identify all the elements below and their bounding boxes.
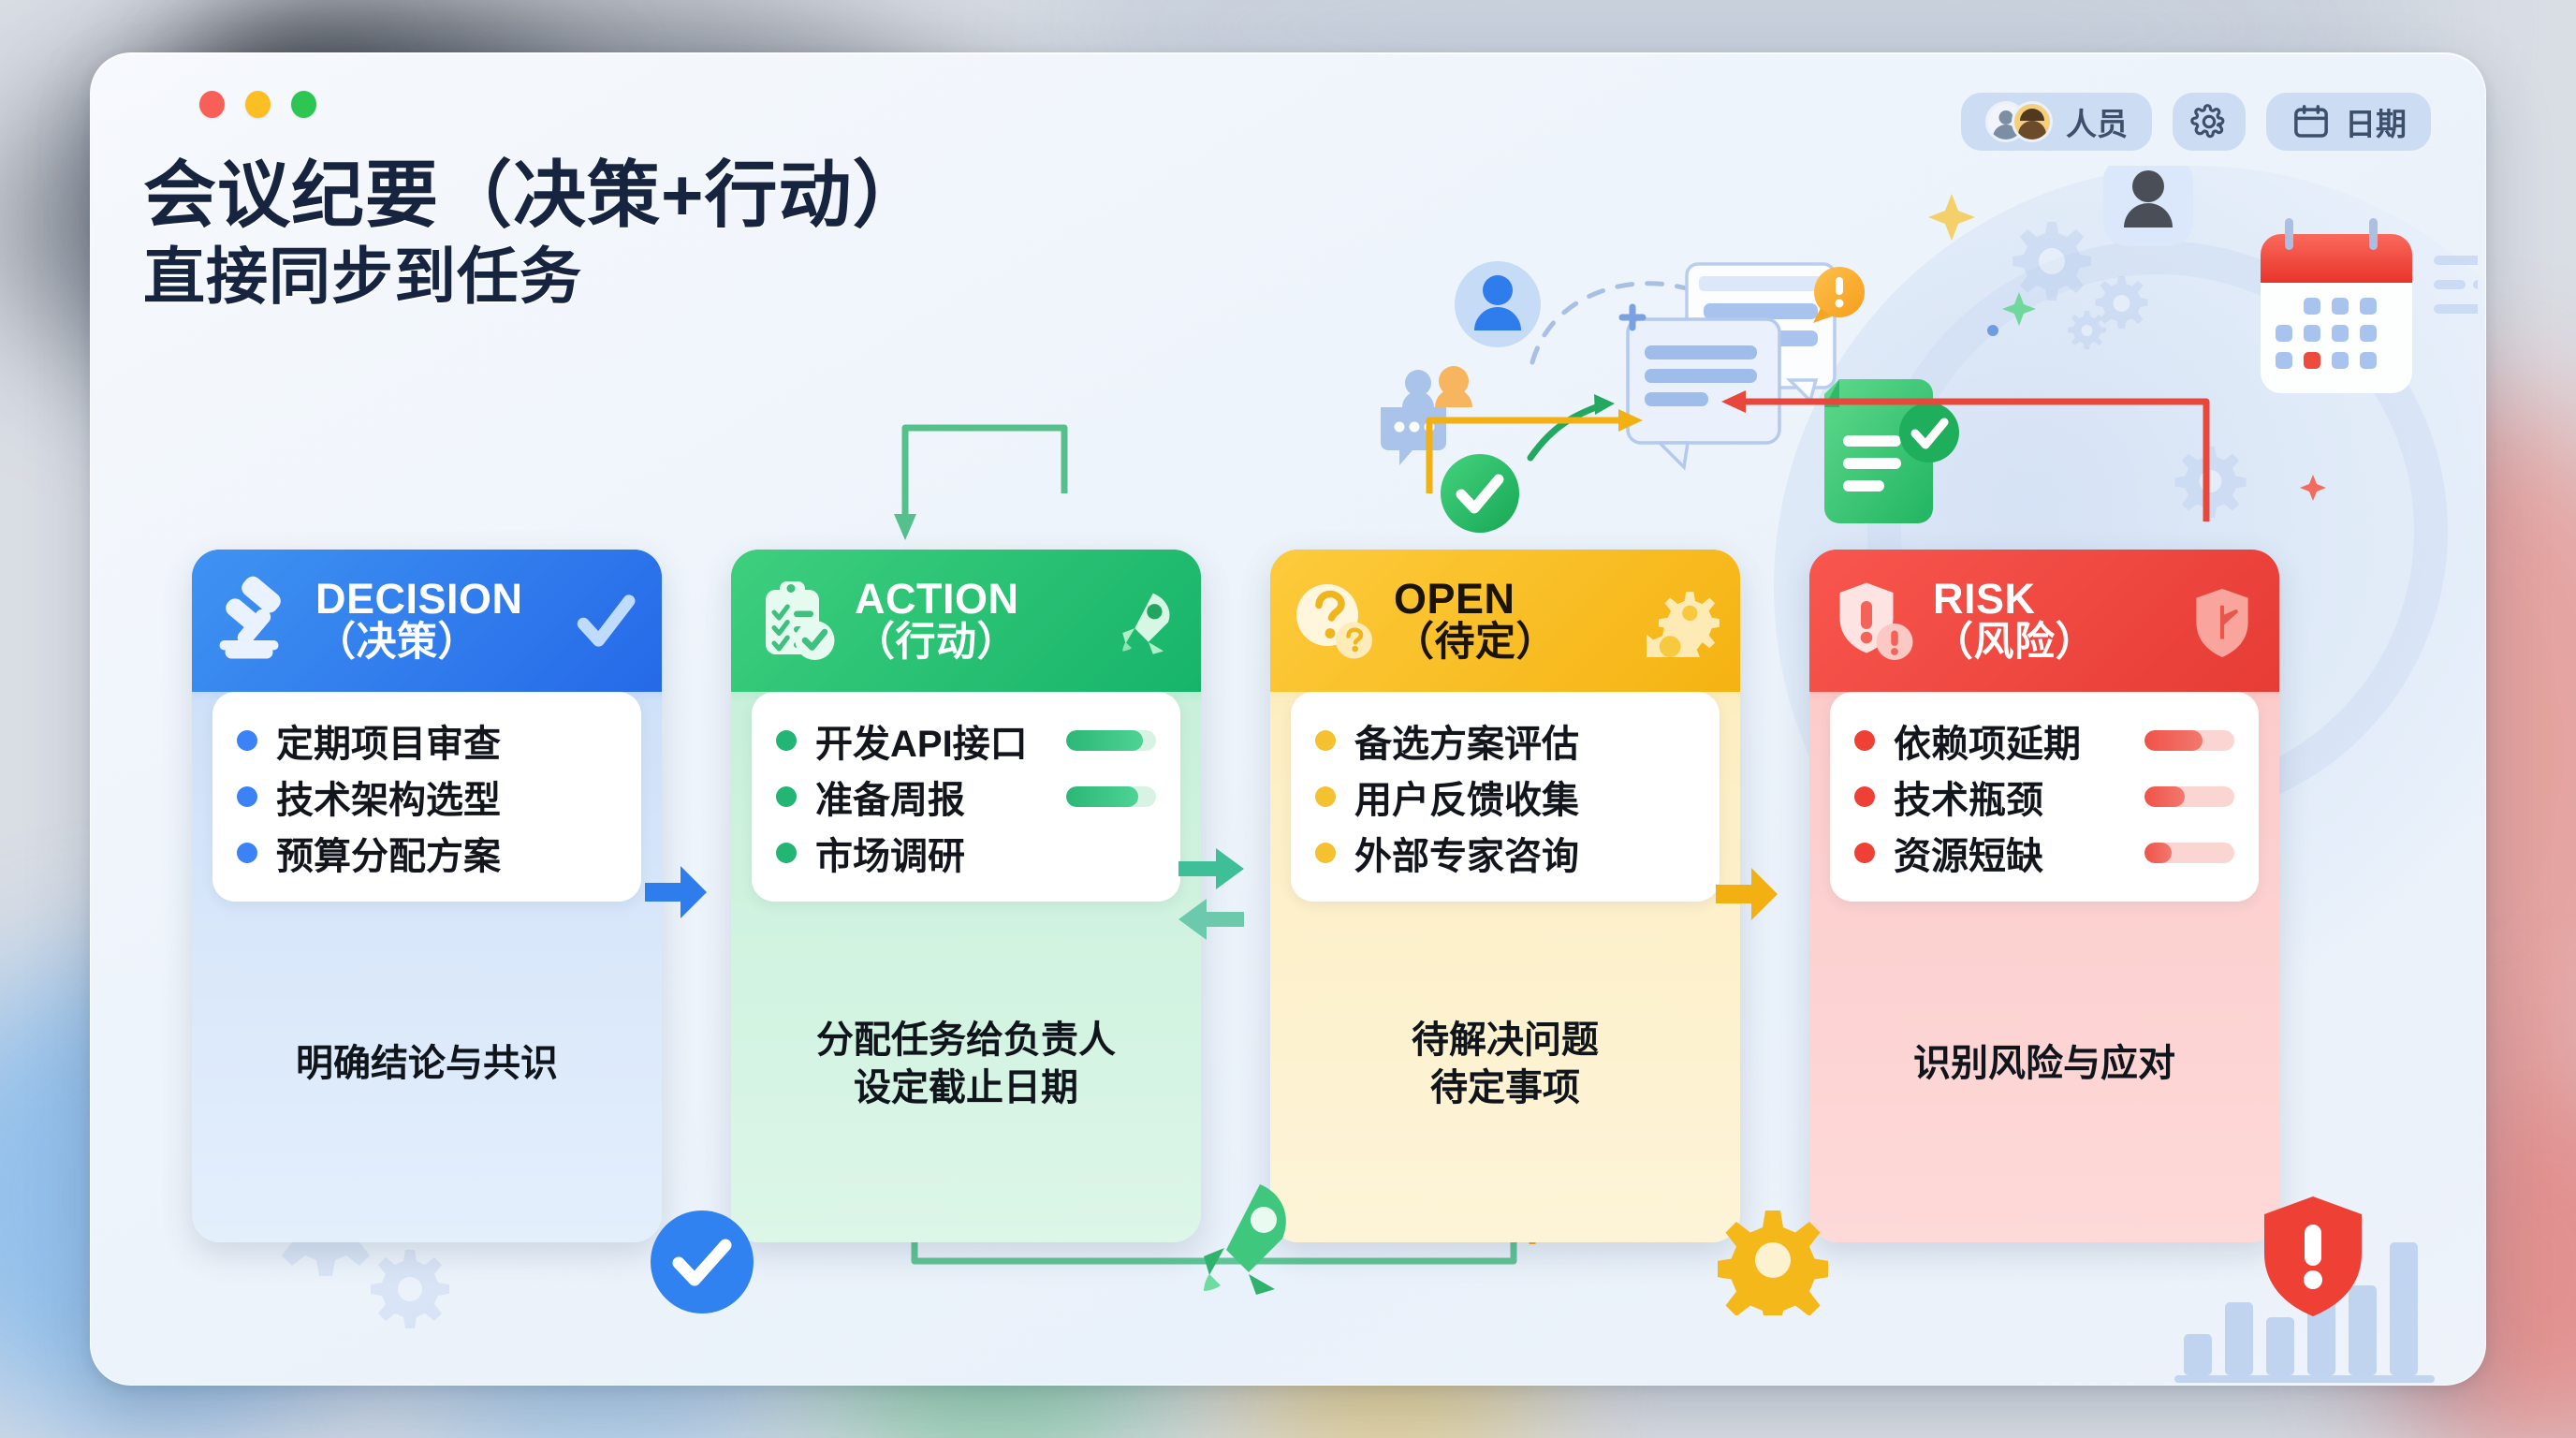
connector-action-to-open [1177,844,1246,947]
card-footer-text: 识别风险与应对 [1913,1040,2175,1088]
app-window: 会议纪要（决策+行动） 直接同步到任务 人员 日期 [90,52,2486,1386]
risk-badge[interactable] [2253,1191,2373,1322]
calendar-icon [2291,101,2332,142]
sparkle-icon [2300,475,2326,501]
card-footer: 待解决问题待定事项 [1270,902,1740,1242]
list-item[interactable]: 预算分配方案 [237,825,634,881]
check-icon [568,584,641,657]
page-title: 会议纪要（决策+行动） [143,154,927,236]
card-title-en: OPEN [1394,577,1557,622]
connector-decision-to-action [641,858,710,926]
shield-icon [2186,584,2259,657]
card-items: 定期项目审查 技术架构选型 预算分配方案 [212,692,641,902]
card-header-text: RISK （风险） [1933,577,2096,664]
dot-decoration [1987,325,1998,336]
list-item[interactable]: 备选方案评估 [1315,712,1712,769]
check-badge[interactable] [645,1205,759,1319]
list-item-label: 依赖项延期 [1894,713,2081,768]
list-item[interactable]: 依赖项延期 [1854,712,2251,769]
card-header-text: DECISION （决策） [315,577,523,664]
title-block: 会议纪要（决策+行动） 直接同步到任务 [143,154,927,315]
check-icon [1441,454,1519,533]
card-title-cn: （行动） [855,622,1019,665]
card-items: 备选方案评估 用户反馈收集 外部专家咨询 [1291,692,1720,902]
category-card-list: DECISION （决策） 定期项目审查 技术架构选型 预 [192,550,2401,1242]
card-title-cn: （决策） [315,622,523,665]
bullet-dot [237,786,257,807]
list-item-label: 技术架构选型 [276,770,501,824]
clipboard-check-icon [752,576,842,666]
text-lines-decoration [2434,256,2478,314]
list-item-label: 定期项目审查 [276,713,501,768]
card-risk[interactable]: RISK （风险） 依赖项延期 技术瓶颈 [1809,550,2279,1242]
progress-bar [2144,843,2234,863]
green-arrow [1530,407,1596,458]
bullet-dot [1854,730,1875,751]
page-subtitle: 直接同步到任务 [143,240,927,314]
list-item-label: 准备周报 [815,770,965,824]
chat-bubble-icon [1628,319,1779,467]
connector-open-to-risk [1712,860,1781,928]
card-header: DECISION （决策） [192,550,662,692]
user-avatar-icon [2103,166,2193,246]
bullet-dot [776,786,797,807]
bullet-dot [1315,843,1336,863]
document-check-icon [1824,379,1959,523]
bullet-dot [1315,786,1336,807]
team-chat-icon [1381,366,1472,465]
maximize-button[interactable] [291,91,316,118]
calendar-icon [2261,218,2412,393]
card-footer-text: 分配任务给负责人设定截止日期 [816,1017,1116,1112]
card-footer: 识别风险与应对 [1809,902,2279,1242]
list-item[interactable]: 市场调研 [776,825,1173,881]
user-avatar-icon [1455,261,1541,347]
progress-bar [1066,730,1156,751]
gear-icon [2190,103,2228,140]
list-item[interactable]: 技术架构选型 [237,769,634,825]
card-title-cn: （待定） [1394,622,1557,665]
card-items: 开发API接口 准备周报 市场调研 [752,692,1180,902]
list-item-label: 外部专家咨询 [1354,826,1579,880]
progress-bar [1066,786,1156,807]
progress-fill [2144,843,2172,863]
close-button[interactable] [199,91,225,118]
people-button[interactable]: 人员 [1961,93,2152,151]
green-arrow-head [1594,394,1615,415]
bullet-dot [1854,786,1875,807]
progress-fill [1066,786,1138,807]
card-header: OPEN （待定） [1270,550,1740,692]
date-button[interactable]: 日期 [2266,93,2431,151]
list-item[interactable]: 用户反馈收集 [1315,769,1712,825]
card-header-text: ACTION （行动） [855,577,1019,664]
card-title-cn: （风险） [1933,622,2096,665]
card-action[interactable]: ACTION （行动） 开发API接口 [731,550,1201,1242]
gears-icon [2012,222,2247,518]
bullet-dot [776,843,797,863]
list-item[interactable]: 定期项目审查 [237,712,634,769]
card-footer-text: 待解决问题待定事项 [1412,1017,1599,1112]
list-item[interactable]: 开发API接口 [776,712,1173,769]
hero-illustration [1364,166,2478,559]
gear-badge[interactable] [1718,1205,1828,1315]
rocket-icon [1107,584,1180,657]
sparkle-icon [2002,292,2036,326]
sparkle-icon [1928,194,1975,241]
people-button-label: 人员 [2066,99,2128,144]
progress-fill [2144,730,2203,751]
card-items: 依赖项延期 技术瓶颈 资源短缺 [1830,692,2259,902]
minimize-button[interactable] [245,91,271,118]
list-item[interactable]: 外部专家咨询 [1315,825,1712,881]
card-title-en: DECISION [315,577,523,622]
warning-shield-icon [1830,576,1920,666]
progress-fill [2144,786,2185,807]
card-header: RISK （风险） [1809,550,2279,692]
question-bubble-icon [1291,576,1381,666]
card-header: ACTION （行动） [731,550,1201,692]
list-item-label: 备选方案评估 [1354,713,1579,768]
avatar [2012,101,2053,142]
rocket-badge[interactable] [1181,1177,1299,1300]
window-controls[interactable] [199,91,316,118]
bullet-dot [237,730,257,751]
list-item-label: 开发API接口 [815,713,1028,768]
card-decision[interactable]: DECISION （决策） 定期项目审查 技术架构选型 预 [192,550,662,1242]
gears-icon [1647,584,1720,657]
alert-badge-icon [1813,267,1865,323]
card-title-en: ACTION [855,577,1019,622]
list-item-label: 资源短缺 [1894,826,2043,880]
progress-fill [1066,730,1143,751]
card-footer: 分配任务给负责人设定截止日期 [731,902,1201,1242]
progress-bar [2144,786,2234,807]
card-open[interactable]: OPEN （待定） 备选方案评估 [1270,550,1740,1242]
card-title-en: RISK [1933,577,2096,622]
list-item-label: 用户反馈收集 [1354,770,1579,824]
bullet-dot [1315,730,1336,751]
list-item[interactable]: 技术瓶颈 [1854,769,2251,825]
card-footer-text: 明确结论与共识 [296,1040,558,1088]
card-footer: 明确结论与共识 [192,902,662,1242]
progress-bar [2144,730,2234,751]
settings-button[interactable] [2173,93,2246,151]
bullet-dot [776,730,797,751]
toolbar: 人员 日期 [1961,93,2431,151]
bullet-dot [1854,843,1875,863]
avatar-group [1985,101,2053,142]
gavel-icon [212,576,302,666]
list-item[interactable]: 准备周报 [776,769,1173,825]
date-button-label: 日期 [2345,99,2407,144]
list-item[interactable]: 资源短缺 [1854,825,2251,881]
list-item-label: 市场调研 [815,826,965,880]
list-item-label: 技术瓶颈 [1894,770,2043,824]
list-item-label: 预算分配方案 [276,826,501,880]
card-header-text: OPEN （待定） [1394,577,1557,664]
bullet-dot [237,843,257,863]
